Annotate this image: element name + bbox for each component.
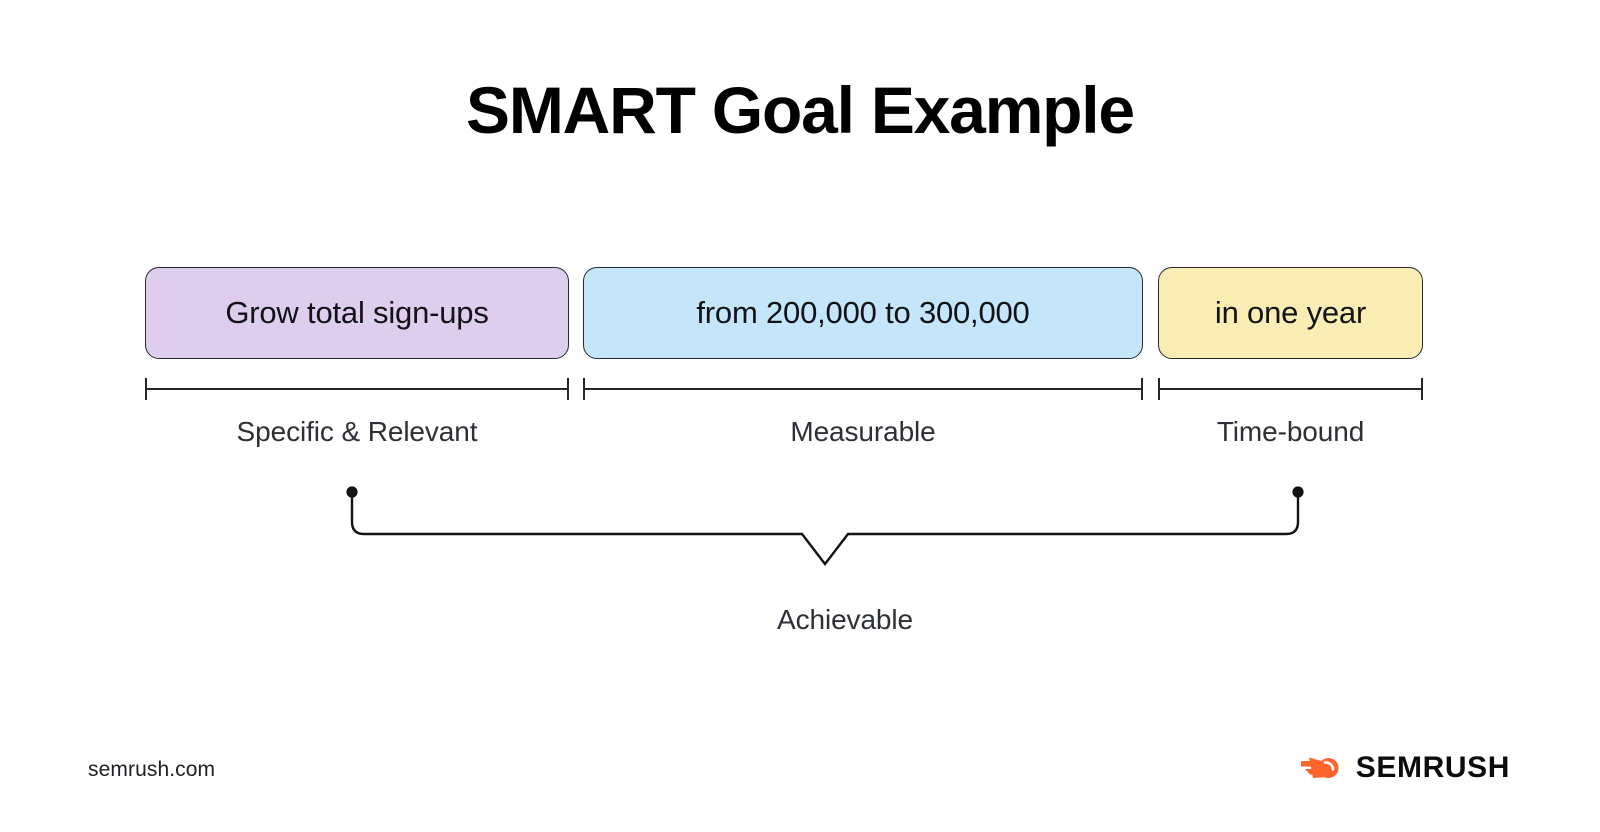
rule-tick-start-timebound [1158, 378, 1160, 400]
goal-segment-specific-label: Grow total sign-ups [225, 295, 488, 331]
goal-segment-measurable: from 200,000 to 300,000 [583, 267, 1143, 359]
caption-timebound: Time-bound [1158, 416, 1423, 448]
semrush-comet-icon [1299, 752, 1343, 784]
rule-tick-start-specific [145, 378, 147, 400]
goal-segment-timebound: in one year [1158, 267, 1423, 359]
footer-url: semrush.com [88, 758, 215, 782]
achievable-brace [330, 478, 1320, 578]
goal-segment-timebound-label: in one year [1215, 295, 1366, 331]
caption-measurable: Measurable [583, 416, 1143, 448]
brace-label-achievable: Achievable [0, 604, 1600, 636]
rule-line-specific [145, 388, 569, 390]
rule-tick-end-measurable [1141, 378, 1143, 400]
caption-specific: Specific & Relevant [145, 416, 569, 448]
rule-line-timebound [1158, 388, 1423, 390]
goal-statement-row: Grow total sign-ups from 200,000 to 300,… [145, 267, 1423, 359]
goal-segment-specific: Grow total sign-ups [145, 267, 569, 359]
rule-tick-end-timebound [1421, 378, 1423, 400]
infographic-canvas: SMART Goal Example Grow total sign-ups f… [0, 0, 1600, 832]
goal-segment-measurable-label: from 200,000 to 300,000 [696, 295, 1029, 331]
brace-endpoint-dot-right [1292, 486, 1303, 497]
rule-tick-end-specific [567, 378, 569, 400]
brace-icon [330, 478, 1320, 578]
brace-endpoint-dot-left [346, 486, 357, 497]
rule-tick-start-measurable [583, 378, 585, 400]
rule-captions: Specific & Relevant Measurable Time-boun… [145, 416, 1423, 462]
page-title: SMART Goal Example [0, 74, 1600, 147]
brand-lockup: SEMRUSH [1299, 752, 1510, 784]
brand-name: SEMRUSH [1356, 753, 1510, 783]
rule-line-measurable [583, 388, 1143, 390]
measurement-rules [145, 378, 1423, 400]
